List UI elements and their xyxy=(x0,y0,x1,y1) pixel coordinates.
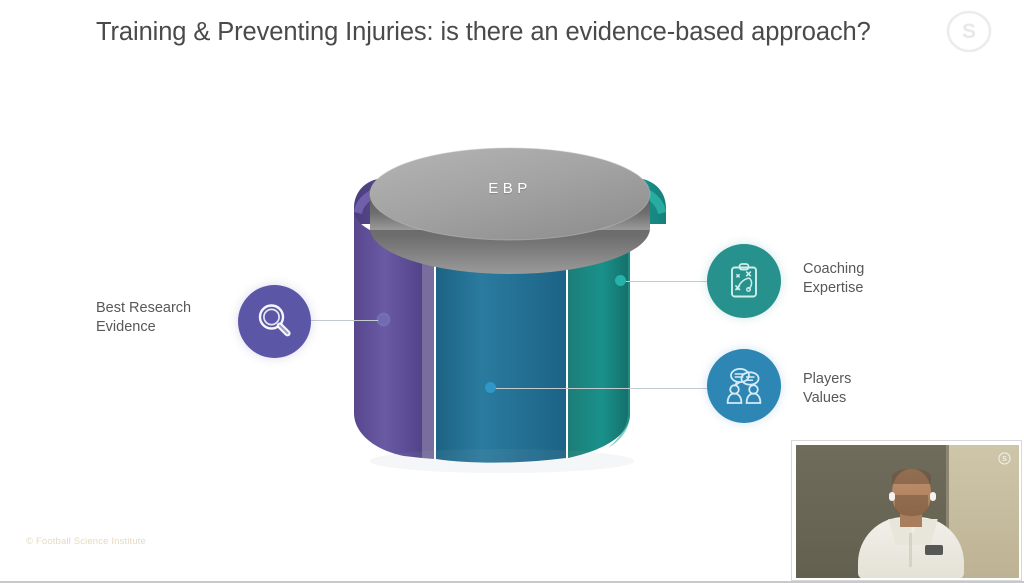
presentation-slide: Training & Preventing Injuries: is there… xyxy=(0,0,1024,583)
icon-bubble-coaching-expertise[interactable] xyxy=(707,244,781,318)
footer-credit: © Football Science Institute xyxy=(26,536,146,547)
hotspot-dot-best-research-evidence[interactable] xyxy=(378,314,389,325)
clipboard-tactics-icon xyxy=(722,259,766,303)
presenter-beard xyxy=(895,495,928,516)
skype-badge-icon: S xyxy=(998,452,1011,465)
label-coaching-expertise: Coaching Expertise xyxy=(803,260,963,298)
connector-best-research-evidence xyxy=(308,320,386,321)
people-speech-icon xyxy=(721,363,767,409)
earbud-left-icon xyxy=(889,492,895,501)
cylinder-graphic xyxy=(330,128,690,478)
icon-bubble-best-research-evidence[interactable] xyxy=(238,285,311,358)
video-frame: S xyxy=(796,445,1019,578)
hotspot-dot-coaching-expertise[interactable] xyxy=(615,275,626,286)
shirt-placket xyxy=(909,533,912,567)
connector-players-values xyxy=(490,388,712,389)
earbud-right-icon xyxy=(930,492,936,501)
label-players-values: Players Values xyxy=(803,370,963,408)
hotspot-dot-players-values[interactable] xyxy=(485,382,496,393)
magnifier-icon xyxy=(253,300,297,344)
presenter-hair xyxy=(892,469,931,484)
svg-text:S: S xyxy=(1002,456,1007,463)
presenter-video-thumbnail[interactable]: S xyxy=(791,440,1022,581)
label-best-research-evidence: Best Research Evidence xyxy=(96,299,236,337)
icon-bubble-players-values[interactable] xyxy=(707,349,781,423)
connector-coaching-expertise xyxy=(620,281,712,282)
shirt-logo xyxy=(925,545,943,555)
